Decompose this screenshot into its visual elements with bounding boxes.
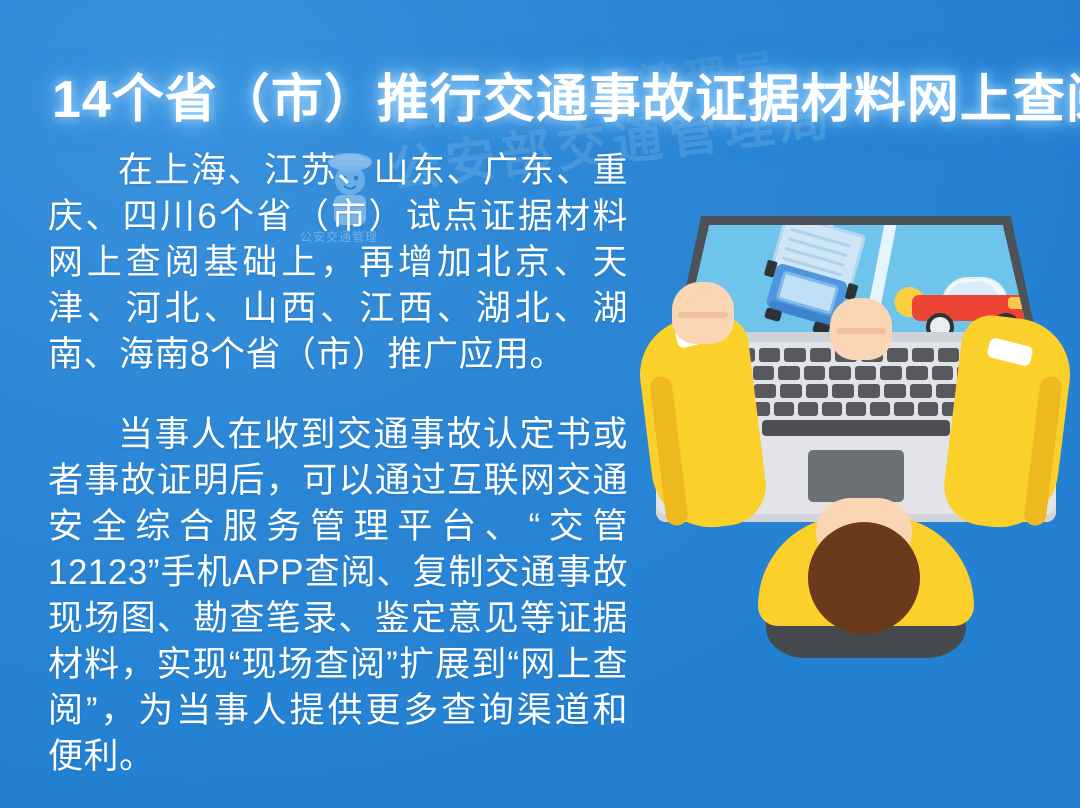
page-title: 14个省（市）推行交通事故证据材料网上查阅 (52, 69, 1042, 131)
head (808, 522, 920, 634)
left-hand (672, 282, 734, 344)
car-wheel (926, 313, 954, 334)
poster-canvas: 公安部交通管理局 公安部交通管理局 公安交通管理 14个省（市）推行交通事故证据… (0, 0, 1080, 808)
laptop-trackpad (808, 450, 904, 502)
paragraph-2: 当事人在收到交通事故认定书或者事故证明后，可以通过互联网交通安全综合服务管理平台… (48, 412, 628, 780)
body-text-column: 在上海、江苏、山东、广东、重庆、四川6个省（市）试点证据材料网上查阅基础上，再增… (48, 148, 628, 808)
paragraph-1: 在上海、江苏、山东、广东、重庆、四川6个省（市）试点证据材料网上查阅基础上，再增… (48, 148, 628, 378)
illustration-person-laptop (640, 190, 1070, 660)
right-hand (830, 298, 892, 360)
car-headlight (1008, 297, 1028, 309)
